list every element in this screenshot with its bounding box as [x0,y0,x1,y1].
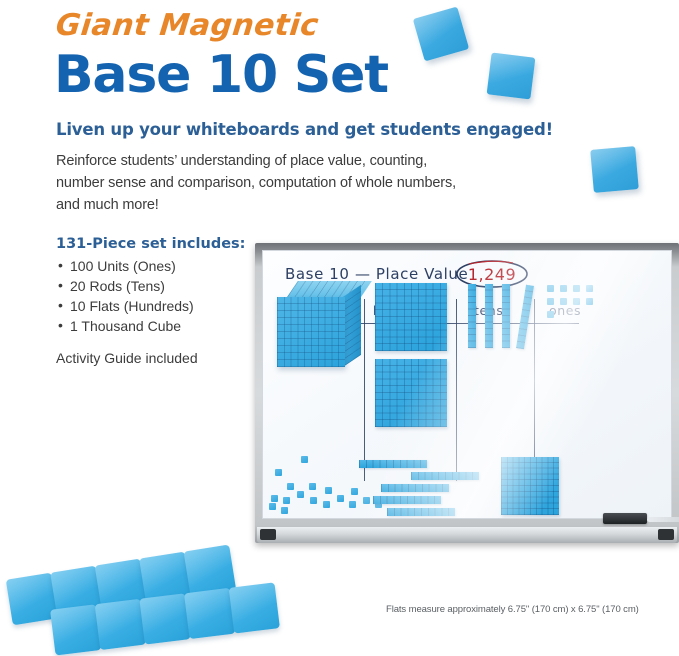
loose-unit-block [287,483,294,490]
whiteboard: Base 10 — Place Value 1,249 thousands hu… [255,243,679,543]
floating-unit-square-icon [413,7,469,62]
ones-unit-block [547,298,554,305]
list-item: 10 Flats (Hundreds) [56,296,271,316]
loose-unit-block [283,497,290,504]
whiteboard-surface: Base 10 — Place Value 1,249 thousands hu… [262,250,672,519]
foam-unit-cell [229,582,280,633]
column-divider [534,299,535,481]
foam-unit-cell [95,599,146,650]
list-item: 20 Rods (Tens) [56,276,271,296]
body-copy-line-2: number sense and comparison, computation… [56,172,516,194]
loose-unit-block [301,456,308,463]
column-divider [456,299,457,481]
ones-unit-block [586,298,593,305]
page-title: Base 10 Set [54,46,388,104]
subheading: Liven up your whiteboards and get studen… [56,120,553,139]
ones-unit-block [547,285,554,292]
loose-unit-block [351,488,358,495]
body-copy-line-1: Reinforce students’ understanding of pla… [56,150,516,172]
ones-unit-block [547,311,554,318]
includes-block: 131-Piece set includes: 100 Units (Ones)… [56,236,271,366]
floating-unit-square-icon [590,146,639,193]
body-copy-line-3: and much more! [56,194,516,216]
loose-unit-block [271,495,278,502]
loose-unit-block [269,503,276,510]
ones-unit-block [560,298,567,305]
loose-unit-block [275,469,282,476]
foam-unit-cell [50,604,101,655]
loose-rod-block [373,496,441,504]
tens-rod-block [485,284,493,348]
loose-rod-block [359,460,427,468]
loose-unit-block [337,495,344,502]
hundreds-flat-block [375,359,447,427]
cube-front-face [277,297,345,367]
tens-rod-block [502,284,510,348]
marker-tray [257,527,677,543]
loose-rod-block [387,508,455,516]
tens-rod-block [468,284,476,348]
floating-unit-square-icon [487,52,536,99]
list-item: 1 Thousand Cube [56,316,271,336]
loose-flat-block [501,457,559,515]
kicker-text: Giant Magnetic [54,8,320,43]
loose-rod-block [381,484,449,492]
loose-rod-block [411,472,479,480]
ones-unit-block [573,298,580,305]
tray-end-cap [260,529,276,540]
tray-end-cap [658,529,674,540]
loose-unit-block [323,501,330,508]
loose-unit-block [349,501,356,508]
thousand-cube-block [277,281,361,373]
whiteboard-eraser [603,513,647,524]
whiteboard-marker [647,517,679,522]
foam-unit-cell [184,588,235,639]
ones-unit-block [560,285,567,292]
activity-guide-note: Activity Guide included [56,350,271,366]
list-item: 100 Units (Ones) [56,256,271,276]
foam-unit-cell [139,593,190,644]
loose-unit-block [310,497,317,504]
loose-unit-block [297,491,304,498]
loose-unit-block [281,507,288,514]
footnote-text: Flats measure approximately 6.75" (170 c… [386,604,639,615]
ones-unit-block [586,285,593,292]
body-copy: Reinforce students’ understanding of pla… [56,150,516,216]
includes-list: 100 Units (Ones) 20 Rods (Tens) 10 Flats… [56,256,271,336]
tens-rod-block [516,285,534,349]
loose-unit-block [325,487,332,494]
includes-title: 131-Piece set includes: [56,236,271,252]
ones-unit-block [573,285,580,292]
hundreds-flat-block [375,283,447,351]
column-divider [364,299,365,481]
loose-unit-block [363,497,370,504]
cube-right-face [343,285,361,367]
loose-unit-block [309,483,316,490]
